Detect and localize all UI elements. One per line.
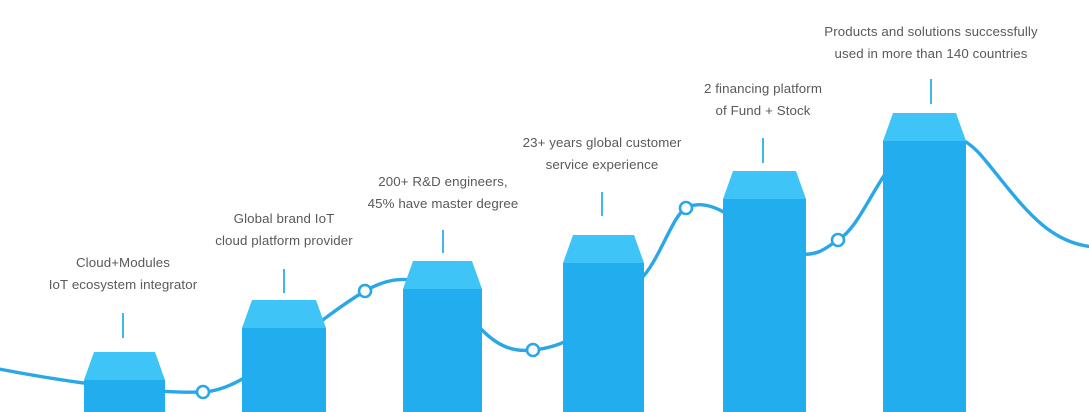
bar-1-top-face xyxy=(84,352,165,380)
infographic-canvas: Cloud+Modules IoT ecosystem integrator G… xyxy=(0,0,1089,412)
bar-5-label-line-2: of Fund + Stock xyxy=(219,100,1089,122)
bar-2-shape[interactable] xyxy=(242,300,326,412)
curve-marker-1[interactable] xyxy=(197,386,209,398)
bar-1-label: Cloud+Modules IoT ecosystem integrator xyxy=(0,252,668,295)
bar-2-label: Global brand IoT cloud platform provider xyxy=(0,208,829,251)
bar-1-label-line-1: Cloud+Modules xyxy=(0,252,668,274)
bar-1-shape[interactable] xyxy=(84,352,165,412)
bar-3-body-face xyxy=(403,289,482,412)
bar-2-top-face xyxy=(242,300,326,328)
bar-4-label-line-1: 23+ years global customer xyxy=(58,132,1089,154)
bar-6-label-line-1: Products and solutions successfully xyxy=(387,21,1089,43)
bar-2-body-face xyxy=(242,328,326,412)
bar-2-label-line-2: cloud platform provider xyxy=(0,230,829,252)
bar-4-label: 23+ years global customer service experi… xyxy=(58,132,1089,175)
bar-3-label: 200+ R&D engineers, 45% have master degr… xyxy=(0,171,988,214)
bar-5-label-line-1: 2 financing platform xyxy=(219,78,1089,100)
bar-4-label-line-2: service experience xyxy=(58,154,1089,176)
bar-3-label-line-2: 45% have master degree xyxy=(0,193,988,215)
bar-5-label: 2 financing platform of Fund + Stock xyxy=(219,78,1089,121)
curve-marker-5[interactable] xyxy=(832,234,844,246)
bar-6-label-line-2: used in more than 140 countries xyxy=(387,43,1089,65)
curve-marker-3[interactable] xyxy=(527,344,539,356)
bar-1-body-face xyxy=(84,380,165,412)
bar-6-label: Products and solutions successfully used… xyxy=(387,21,1089,64)
bar-1-label-line-2: IoT ecosystem integrator xyxy=(0,274,668,296)
